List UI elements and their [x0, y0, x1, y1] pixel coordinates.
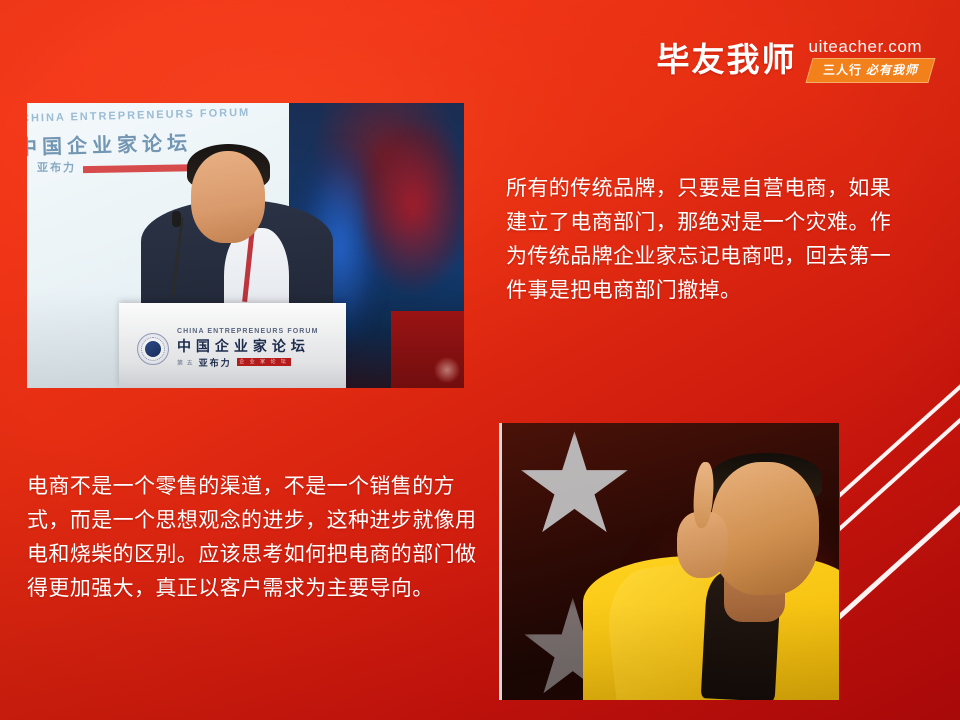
podium-chinese-text: 中国企业家论坛: [177, 337, 332, 355]
quote-text-top-right: 所有的传统品牌，只要是自营电商，如果建立了电商部门，那绝对是一个灾难。作为传统品…: [506, 172, 910, 308]
speaker-face: [191, 151, 265, 242]
logo-ribbon-right-text: 必有我师: [866, 64, 918, 77]
speaker-photo-scene: CHINA ENTREPRENEURS FORUM 中国企业家论坛 亚布力: [27, 103, 464, 388]
slide-canvas: 毕友我师 uiteacher.com 三人行 必有我师 CHINA ENTREP…: [0, 0, 960, 720]
podium-small-text: 第 五: [177, 358, 194, 367]
logo-domain-text: uiteacher.com: [809, 38, 923, 55]
podium-red-bar-text: 企 业 家 论 坛: [237, 358, 291, 366]
backdrop-chinese-text: 中国企业家论坛: [27, 127, 192, 161]
exec-photo-scene: [502, 423, 839, 700]
logo-ribbon-left-text: 三人行: [822, 64, 861, 77]
podium-english-text: CHINA ENTREPRENEURS FORUM: [177, 328, 332, 336]
forum-seal-ring: [141, 337, 165, 361]
photo-executive-pointing[interactable]: [499, 423, 839, 700]
podium-text-block: CHINA ENTREPRENEURS FORUM 中国企业家论坛 第 五 亚布…: [177, 328, 332, 369]
podium-panel: CHINA ENTREPRENEURS FORUM 中国企业家论坛 第 五 亚布…: [119, 303, 346, 389]
stage-red-light: [363, 126, 464, 303]
podium-subtitle-row: 第 五 亚布力 企 业 家 论 坛: [177, 356, 332, 369]
forum-seal-icon: [137, 333, 169, 365]
quote-text-bottom-left: 电商不是一个零售的渠道，不是一个销售的方式，而是一个思想观念的进步，这种进步就像…: [27, 470, 479, 606]
site-logo[interactable]: uiteacher.com 三人行 必有我师: [809, 36, 932, 83]
header-branding: 毕友我师 uiteacher.com 三人行 必有我师: [657, 36, 932, 83]
podium-red-bar: 企 业 家 论 坛: [237, 358, 291, 366]
logo-ribbon: 三人行 必有我师: [805, 58, 936, 83]
page-title: 毕友我师: [657, 43, 797, 76]
microphone-head: [172, 211, 181, 227]
stage-banner-emblem: [434, 357, 460, 383]
backdrop-subtitle-text: 亚布力: [37, 159, 76, 175]
photo-speaker-at-forum[interactable]: CHINA ENTREPRENEURS FORUM 中国企业家论坛 亚布力: [27, 103, 464, 388]
podium-yabuli-text: 亚布力: [199, 356, 232, 369]
stage-lower-banner: [391, 311, 464, 388]
podium-logo-block: CHINA ENTREPRENEURS FORUM 中国企业家论坛 第 五 亚布…: [137, 321, 332, 376]
backdrop-english-text: CHINA ENTREPRENEURS FORUM: [27, 105, 306, 124]
